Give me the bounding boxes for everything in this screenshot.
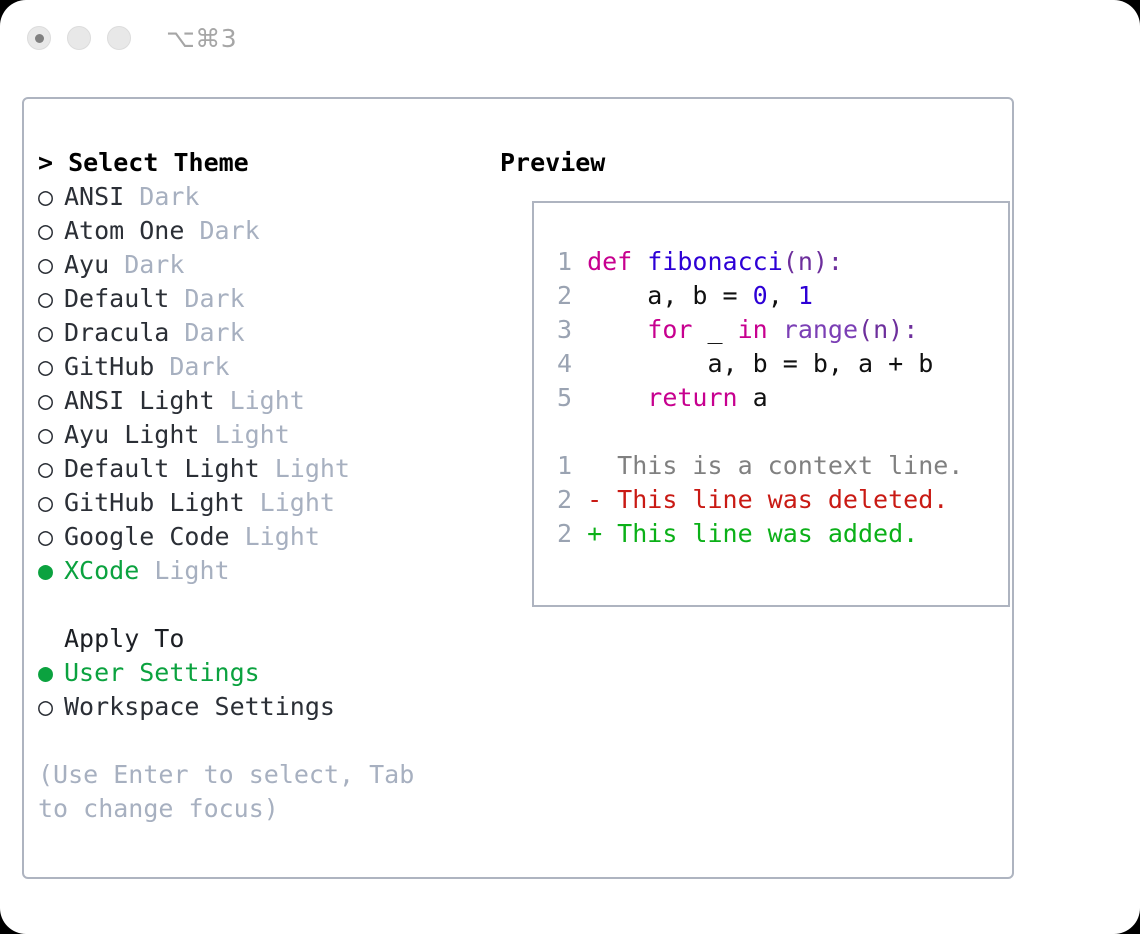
theme-option-label: ANSI xyxy=(64,182,124,211)
radio-unselected-icon: ○ xyxy=(38,214,64,248)
titlebar: ⌥⌘3 xyxy=(0,0,1140,78)
theme-option-default[interactable]: ○Default Dark xyxy=(38,282,488,316)
theme-option-kind: Dark xyxy=(109,250,184,279)
code-token xyxy=(632,247,647,276)
theme-option-label: Default Light xyxy=(64,454,260,483)
code-line: 2 - This line was deleted. xyxy=(548,483,1002,517)
code-token xyxy=(587,315,647,344)
recording-indicator-icon xyxy=(35,34,44,43)
code-token: return xyxy=(647,383,737,412)
gutter-space xyxy=(572,349,587,378)
code-preview: 1 def fibonacci(n):2 a, b = 0, 13 for _ … xyxy=(548,245,1002,551)
theme-option-kind: Light xyxy=(215,386,305,415)
code-line xyxy=(548,415,1002,449)
code-line: 2 + This line was added. xyxy=(548,517,1002,551)
theme-option-label: Ayu Light xyxy=(64,420,199,449)
theme-option-kind: Dark xyxy=(169,284,244,313)
theme-option-kind: Light xyxy=(139,556,229,585)
line-number: 1 xyxy=(548,245,572,279)
preview-box: 1 def fibonacci(n):2 a, b = 0, 13 for _ … xyxy=(532,201,1010,607)
gutter-space xyxy=(572,315,587,344)
gutter-space xyxy=(572,417,587,446)
preview-column: Preview 1 def fibonacci(n):2 a, b = 0, 1… xyxy=(500,146,1000,180)
gutter-space xyxy=(572,485,587,514)
theme-option-label: GitHub Light xyxy=(64,488,245,517)
code-token: in xyxy=(738,315,768,344)
theme-option-label: Google Code xyxy=(64,522,230,551)
line-number: 2 xyxy=(548,483,572,517)
code-token: a xyxy=(738,383,768,412)
code-line: 1 def fibonacci(n): xyxy=(548,245,1002,279)
window-dot-3[interactable] xyxy=(107,26,131,50)
code-line: 5 return a xyxy=(548,381,1002,415)
theme-option-label: GitHub xyxy=(64,352,154,381)
theme-option-github[interactable]: ○GitHub Dark xyxy=(38,350,488,384)
gutter-space xyxy=(572,451,587,480)
code-token: def xyxy=(587,247,632,276)
code-line: 4 a, b = b, a + b xyxy=(548,347,1002,381)
code-token: ( xyxy=(783,247,798,276)
theme-option-label: ANSI Light xyxy=(64,386,215,415)
theme-option-label: Dracula xyxy=(64,318,169,347)
keyboard-hint-text: (Use Enter to select, Tab to change focu… xyxy=(38,758,448,826)
theme-option-github-light[interactable]: ○GitHub Light Light xyxy=(38,486,488,520)
theme-option-label: Ayu xyxy=(64,250,109,279)
apply-to-list: ●User Settings○Workspace Settings xyxy=(38,656,488,724)
apply-to-label: Apply To xyxy=(38,622,488,656)
theme-option-kind: Dark xyxy=(184,216,259,245)
code-token: a, b = xyxy=(587,281,753,310)
apply-to-option-workspace-settings[interactable]: ○Workspace Settings xyxy=(38,690,488,724)
code-token xyxy=(768,315,783,344)
radio-unselected-icon: ○ xyxy=(38,418,64,452)
code-token: This is a context line. xyxy=(587,451,963,480)
code-token: _ xyxy=(692,315,737,344)
theme-option-ansi-light[interactable]: ○ANSI Light Light xyxy=(38,384,488,418)
radio-unselected-icon: ○ xyxy=(38,384,64,418)
theme-option-label: Atom One xyxy=(64,216,184,245)
radio-unselected-icon: ○ xyxy=(38,520,64,554)
app-window: ⌥⌘3 > Select Theme ○ANSI Dark○Atom One D… xyxy=(0,0,1140,934)
code-token: + This line was added. xyxy=(587,519,918,548)
select-theme-title: > Select Theme xyxy=(38,146,488,180)
theme-option-ayu[interactable]: ○Ayu Dark xyxy=(38,248,488,282)
spacer xyxy=(38,724,488,758)
radio-unselected-icon: ○ xyxy=(38,350,64,384)
code-token: ): xyxy=(813,247,843,276)
code-token xyxy=(587,417,602,446)
line-number: 2 xyxy=(548,279,572,313)
radio-selected-icon: ● xyxy=(38,656,64,690)
code-token: a, b = b, a + b xyxy=(587,349,933,378)
window-dot-active[interactable] xyxy=(27,26,51,50)
code-line: 3 for _ in range(n): xyxy=(548,313,1002,347)
theme-option-atom-one[interactable]: ○Atom One Dark xyxy=(38,214,488,248)
gutter-space xyxy=(572,247,587,276)
gutter-space xyxy=(572,281,587,310)
line-number: 4 xyxy=(548,347,572,381)
radio-unselected-icon: ○ xyxy=(38,452,64,486)
theme-list-column: > Select Theme ○ANSI Dark○Atom One Dark○… xyxy=(38,146,488,826)
theme-selector-panel: > Select Theme ○ANSI Dark○Atom One Dark○… xyxy=(22,97,1014,879)
theme-option-kind: Light xyxy=(260,454,350,483)
line-number: 2 xyxy=(548,517,572,551)
theme-option-ansi[interactable]: ○ANSI Dark xyxy=(38,180,488,214)
apply-to-option-label: Workspace Settings xyxy=(64,692,335,721)
preview-title: Preview xyxy=(500,146,1000,180)
code-line: 2 a, b = 0, 1 xyxy=(548,279,1002,313)
radio-unselected-icon: ○ xyxy=(38,690,64,724)
theme-list: ○ANSI Dark○Atom One Dark○Ayu Dark○Defaul… xyxy=(38,180,488,588)
code-token: ): xyxy=(888,315,918,344)
gutter-space xyxy=(572,383,587,412)
radio-unselected-icon: ○ xyxy=(38,180,64,214)
code-token: 0 xyxy=(753,281,768,310)
code-token: n xyxy=(798,247,813,276)
theme-option-default-light[interactable]: ○Default Light Light xyxy=(38,452,488,486)
theme-option-kind: Dark xyxy=(154,352,229,381)
theme-option-label: Default xyxy=(64,284,169,313)
code-token: , xyxy=(768,281,798,310)
code-token: range xyxy=(783,315,858,344)
line-number: 5 xyxy=(548,381,572,415)
apply-to-option-label: User Settings xyxy=(64,658,260,687)
spacer xyxy=(38,588,488,622)
code-token xyxy=(587,383,647,412)
keyboard-shortcut-label: ⌥⌘3 xyxy=(166,22,237,56)
theme-option-xcode[interactable]: ●XCode Light xyxy=(38,554,488,588)
code-line: 1 This is a context line. xyxy=(548,449,1002,483)
code-token: fibonacci xyxy=(647,247,782,276)
theme-option-kind: Light xyxy=(199,420,289,449)
theme-option-ayu-light[interactable]: ○Ayu Light Light xyxy=(38,418,488,452)
code-token: for xyxy=(647,315,692,344)
theme-option-kind: Dark xyxy=(124,182,199,211)
window-dot-2[interactable] xyxy=(67,26,91,50)
code-token: - This line was deleted. xyxy=(587,485,948,514)
theme-option-label: XCode xyxy=(64,556,139,585)
theme-option-kind: Light xyxy=(230,522,320,551)
theme-option-google-code[interactable]: ○Google Code Light xyxy=(38,520,488,554)
theme-option-kind: Dark xyxy=(169,318,244,347)
code-token: 1 xyxy=(798,281,813,310)
radio-selected-icon: ● xyxy=(38,554,64,588)
code-token: n xyxy=(873,315,888,344)
theme-option-kind: Light xyxy=(245,488,335,517)
line-number: 3 xyxy=(548,313,572,347)
gutter-space xyxy=(572,519,587,548)
theme-option-dracula[interactable]: ○Dracula Dark xyxy=(38,316,488,350)
apply-to-option-user-settings[interactable]: ●User Settings xyxy=(38,656,488,690)
radio-unselected-icon: ○ xyxy=(38,316,64,350)
radio-unselected-icon: ○ xyxy=(38,282,64,316)
code-token: ( xyxy=(858,315,873,344)
radio-unselected-icon: ○ xyxy=(38,486,64,520)
radio-unselected-icon: ○ xyxy=(38,248,64,282)
line-number: 1 xyxy=(548,449,572,483)
